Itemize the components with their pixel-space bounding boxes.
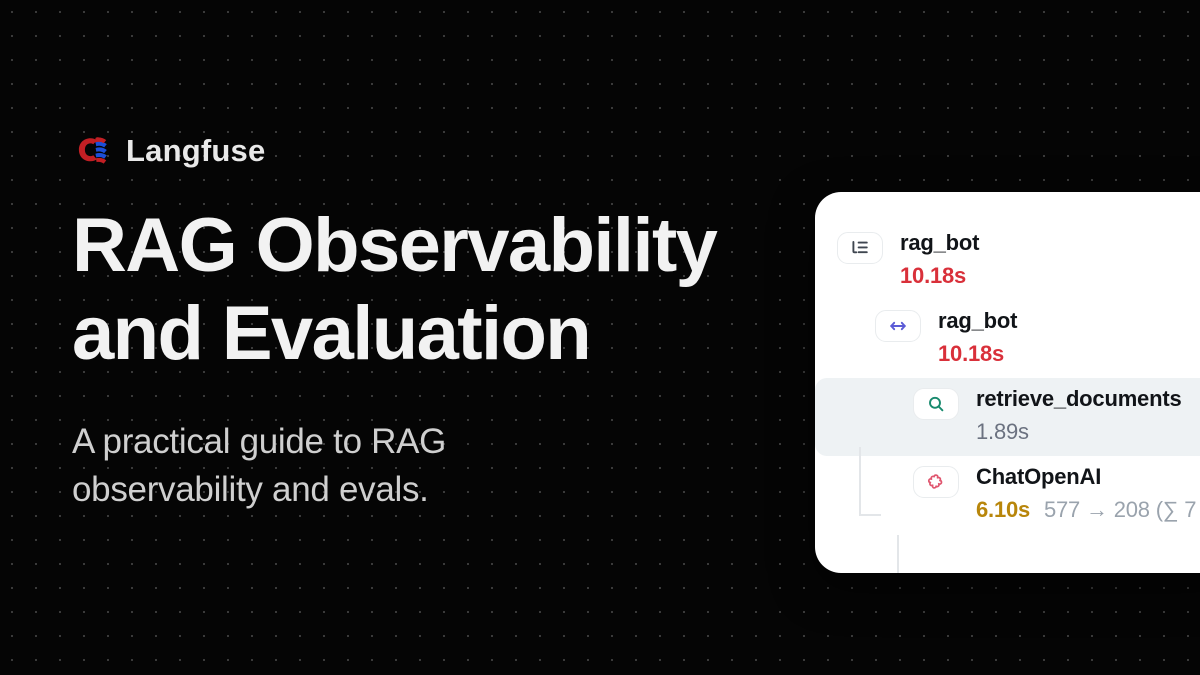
trace-row-name: rag_bot — [900, 229, 979, 257]
duration-value: 1.89s — [976, 419, 1029, 444]
brand-name: Langfuse — [126, 135, 265, 166]
trace-row[interactable]: rag_bot 10.18s — [815, 300, 1200, 378]
trace-row-name: ChatOpenAI — [976, 463, 1196, 491]
tree-connector — [897, 535, 899, 573]
openai-generation-icon — [913, 466, 959, 498]
duration-value: 6.10s — [976, 497, 1030, 522]
duration-value: 10.18s — [900, 263, 966, 288]
list-tree-icon — [837, 232, 883, 264]
trace-row-name: rag_bot — [938, 307, 1017, 335]
hero-content: Langfuse RAG Observability and Evaluatio… — [72, 128, 832, 514]
trace-row-meta: 6.10s 577 → 208 (∑ 7 — [976, 496, 1196, 524]
tree-connector — [859, 447, 861, 515]
trace-row-meta: 10.18s — [938, 340, 1017, 368]
trace-row-text: ChatOpenAI 6.10s 577 → 208 (∑ 7 — [959, 462, 1196, 523]
page-title: RAG Observability and Evaluation — [72, 202, 812, 378]
brand-lockup: Langfuse — [72, 128, 832, 172]
token-usage: 577 → 208 (∑ 7 — [1044, 497, 1196, 522]
search-icon — [913, 388, 959, 420]
trace-row[interactable]: ChatOpenAI 6.10s 577 → 208 (∑ 7 — [815, 456, 1200, 534]
trace-row-text: rag_bot 10.18s — [883, 228, 979, 289]
page-subtitle: A practical guide to RAG observability a… — [72, 418, 592, 514]
trace-row-list: rag_bot 10.18s rag_bot — [815, 222, 1200, 534]
span-arrows-icon — [875, 310, 921, 342]
hero-banner: Langfuse RAG Observability and Evaluatio… — [0, 0, 1200, 675]
tree-connector — [859, 514, 881, 516]
langfuse-logo-icon — [72, 135, 112, 165]
trace-row[interactable]: rag_bot 10.18s — [815, 222, 1200, 300]
trace-tree-card: rag_bot 10.18s rag_bot — [815, 192, 1200, 573]
trace-row-text: rag_bot 10.18s — [921, 306, 1017, 367]
trace-row-name: retrieve_documents — [976, 385, 1182, 413]
trace-row-text: retrieve_documents 1.89s — [959, 384, 1182, 445]
duration-value: 10.18s — [938, 341, 1004, 366]
trace-row-meta: 10.18s — [900, 262, 979, 290]
trace-row-meta: 1.89s — [976, 418, 1182, 446]
trace-row[interactable]: retrieve_documents 1.89s — [815, 378, 1200, 456]
